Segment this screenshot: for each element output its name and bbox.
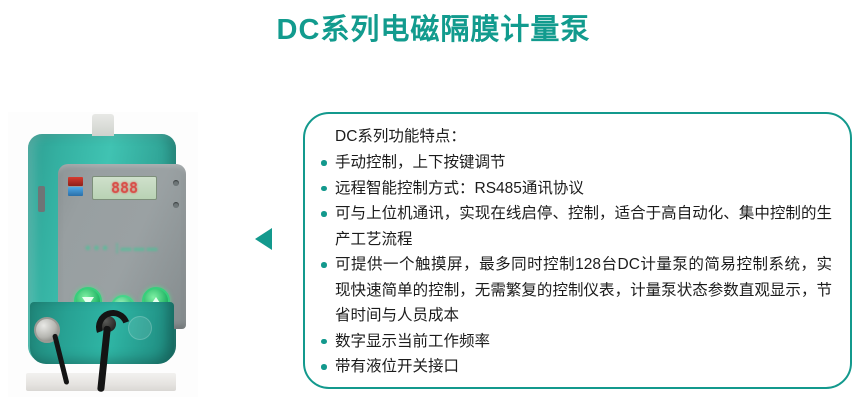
pump-blank-port [128, 316, 152, 340]
feature-content: DC系列功能特点： 手动控制，上下按键调节 远程智能控制方式：RS485通讯协议… [305, 114, 850, 386]
feature-item: 数字显示当前工作频率 [311, 329, 836, 355]
indicator-led-top-icon [173, 180, 179, 186]
pump-side-cable [38, 186, 45, 212]
indicator-led-bottom-icon [173, 202, 179, 208]
feature-item: 远程智能控制方式：RS485通讯协议 [311, 176, 836, 202]
status-lamp-red-icon [68, 177, 83, 186]
page-title: DC系列电磁隔膜计量泵 [0, 10, 867, 50]
pointer-triangle-icon [255, 228, 272, 250]
feature-list: 手动控制，上下按键调节 远程智能控制方式：RS485通讯协议 可与上位机通讯，实… [311, 150, 836, 380]
pump-brand-mark: ●●● |▬▬▬ [58, 242, 186, 254]
feature-item: 手动控制，上下按键调节 [311, 150, 836, 176]
feature-callout-box: DC系列功能特点： 手动控制，上下按键调节 远程智能控制方式：RS485通讯协议… [303, 112, 852, 389]
product-photo: 888 ●●● |▬▬▬ ≡ [8, 112, 198, 397]
feature-item: 可与上位机通讯，实现在线启停、控制，适合于高自动化、集中控制的生产工艺流程 [311, 201, 836, 252]
status-lamp-blue-icon [68, 187, 83, 196]
display-value: 888 [111, 181, 138, 196]
pump-digital-display: 888 [92, 176, 157, 200]
feature-item: 可提供一个触摸屏，最多同时控制128台DC计量泵的简易控制系统，实现快速简单的控… [311, 252, 836, 329]
pump-vent-cap [92, 114, 114, 136]
feature-item: 带有液位开关接口 [311, 354, 836, 380]
feature-heading: DC系列功能特点： [335, 124, 836, 149]
